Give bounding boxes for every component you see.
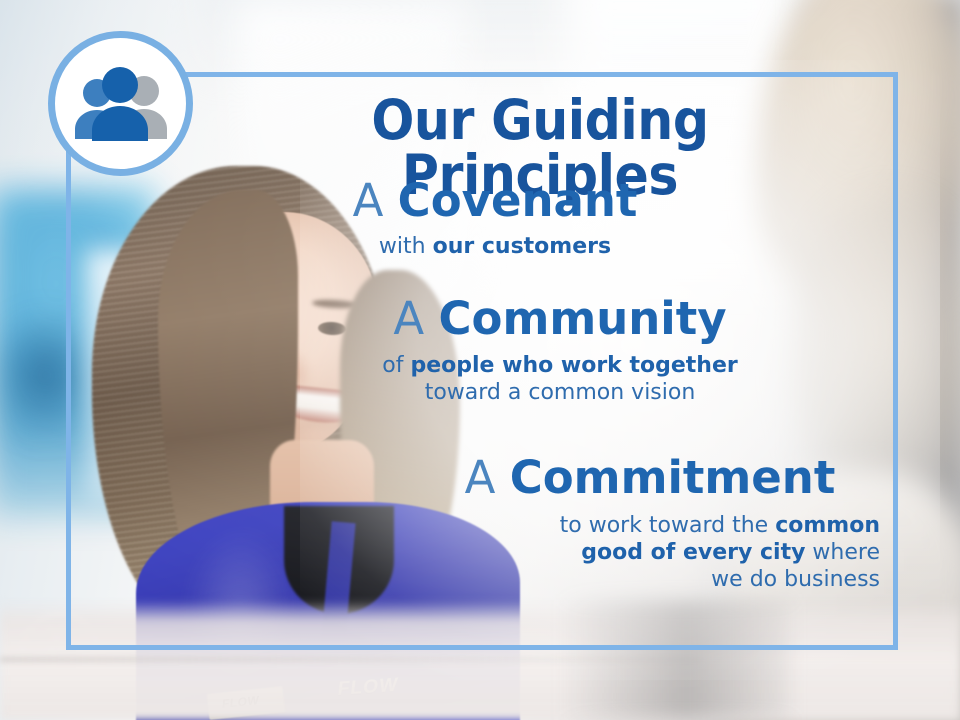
- guiding-principles-poster: FLOW FLOW: [0, 0, 960, 720]
- principle-commitment: A Commitment to work toward the common g…: [420, 455, 880, 594]
- people-group-icon-badge: [48, 31, 193, 176]
- principle-community-heading: A Community: [330, 296, 790, 342]
- principle-commitment-keyword: Commitment: [510, 451, 836, 504]
- community-sub-line-2: toward a common vision: [425, 380, 696, 405]
- community-sub-line-1-regular: of: [382, 353, 410, 378]
- covenant-sub-part-1: with: [379, 234, 433, 259]
- principle-covenant: A Covenant with our customers: [300, 178, 690, 260]
- commitment-sub-line-3: we do business: [711, 567, 880, 592]
- principle-covenant-article: A: [353, 174, 398, 227]
- principle-commitment-heading: A Commitment: [420, 455, 880, 501]
- principle-community-subtext: of people who work together toward a com…: [330, 352, 790, 407]
- principle-commitment-subtext: to work toward the common good of every …: [420, 512, 880, 594]
- principle-community-article: A: [393, 292, 438, 345]
- principle-community-keyword: Community: [439, 292, 727, 345]
- commitment-sub-line-2-regular: where: [805, 540, 880, 565]
- commitment-sub-line-1-regular: to work toward the: [560, 513, 776, 538]
- principle-commitment-article: A: [465, 451, 510, 504]
- commitment-sub-line-2-bold: good of every city: [581, 540, 805, 565]
- covenant-sub-part-2: our customers: [433, 234, 612, 259]
- principle-covenant-keyword: Covenant: [398, 174, 638, 227]
- principle-community: A Community of people who work together …: [330, 296, 790, 406]
- commitment-sub-line-1-bold: common: [775, 513, 880, 538]
- principle-covenant-subtext: with our customers: [300, 233, 690, 260]
- people-group-icon: [69, 67, 173, 141]
- desk-shadow: [560, 600, 790, 720]
- community-sub-line-1-bold: people who work together: [410, 353, 737, 378]
- principle-covenant-heading: A Covenant: [300, 178, 690, 224]
